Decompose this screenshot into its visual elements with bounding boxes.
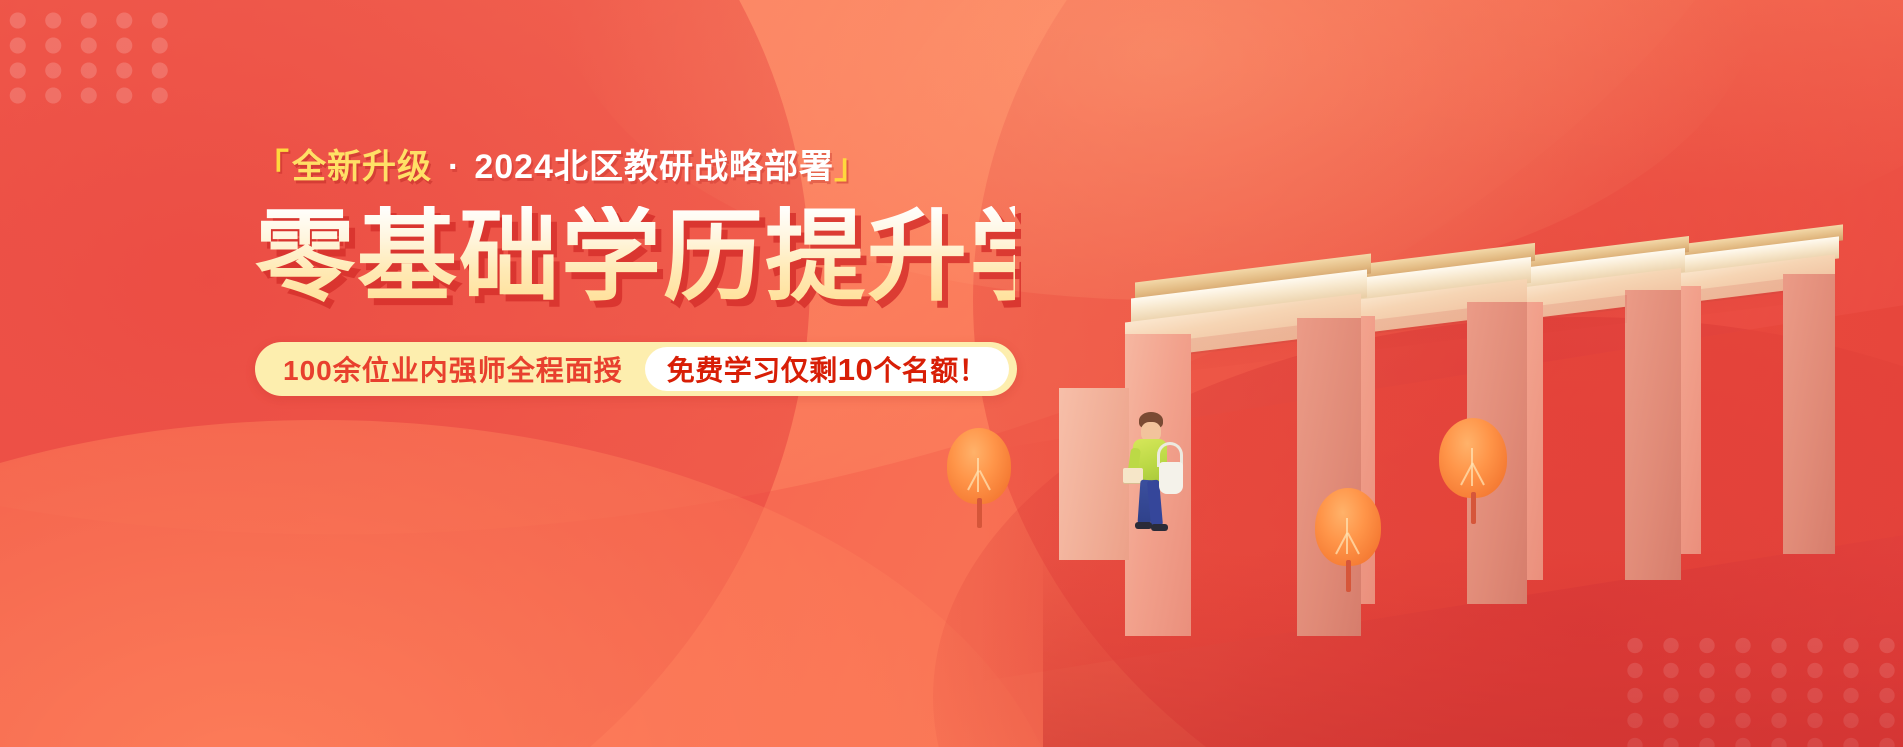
- student-figure: [1121, 412, 1191, 538]
- highlight-pill: 100余位业内强师全程面授 免费学习仅剩10个名额！: [255, 342, 1017, 396]
- bracket-open: 「: [255, 150, 290, 184]
- badge-suffix: 个名额！: [873, 355, 987, 386]
- front-pillar: [1059, 388, 1129, 560]
- badge-prefix: 免费学习仅剩: [667, 355, 838, 386]
- illustration: [1043, 0, 1903, 747]
- tree-mid: [1315, 488, 1389, 598]
- status-badge: 免费学习仅剩10个名额！: [645, 347, 1010, 391]
- tote-bag-icon: [1159, 462, 1183, 494]
- tree-left: [947, 428, 1021, 536]
- promo-banner: 「 全新升级 · 2024北区教研战略部署 」 零基础学历提升学霸班 100余位…: [0, 0, 1903, 747]
- banner-content: 「 全新升级 · 2024北区教研战略部署 」 零基础学历提升学霸班 100余位…: [255, 150, 1015, 396]
- bracket-close: 」: [834, 150, 869, 184]
- pill-label: 100余位业内强师全程面授: [283, 349, 645, 389]
- tree-right: [1439, 418, 1515, 530]
- badge-number: 10: [838, 352, 873, 387]
- bg-curve-bottom-left: [0, 420, 1070, 747]
- eyebrow-highlight: 全新升级: [290, 150, 434, 184]
- badge-text: 免费学习仅剩10个名额！: [667, 349, 988, 389]
- banner-eyebrow: 「 全新升级 · 2024北区教研战略部署 」: [255, 150, 1015, 184]
- eyebrow-separator: ·: [434, 150, 474, 184]
- page-title: 零基础学历提升学霸班: [255, 206, 1015, 308]
- dot-grid-top-left: [0, 8, 178, 108]
- eyebrow-rest: 2024北区教研战略部署: [474, 150, 834, 184]
